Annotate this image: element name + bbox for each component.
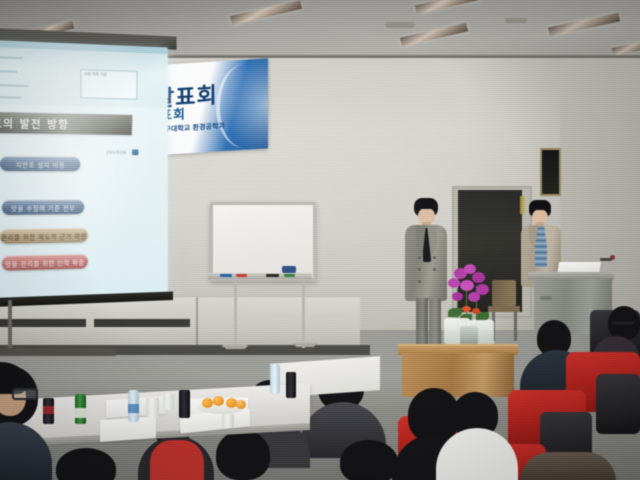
fruit-tangerine: [213, 396, 224, 406]
coat-button: [433, 268, 436, 271]
coat-button: [418, 280, 421, 283]
leg-left: [416, 298, 428, 350]
ceiling-light-fixture: [548, 13, 620, 37]
auditorium-photo: 발표회 표회 대구대학교 환경공학과 사용 목록 기준 으로의 발전 방향 EN…: [0, 0, 640, 480]
coat-button: [418, 256, 421, 259]
whiteboard-marker-tray: [208, 273, 312, 279]
wall-speaker-icon: [540, 148, 561, 196]
eyeglasses-icon: [612, 322, 634, 327]
orchid-accent: [462, 306, 471, 312]
flower-table-body: [402, 353, 514, 397]
audience-fur-collar: [520, 452, 616, 480]
paper-cup: [146, 398, 159, 418]
paper-cup: [222, 414, 234, 428]
projection-screen-assembly: 사용 목록 기준 으로의 발전 방향 ENVIRON 지반조 설치 비용: [0, 40, 175, 320]
orchid-arrangement: [442, 262, 506, 350]
hair-fringe: [414, 198, 438, 209]
coffee-can: [179, 390, 190, 418]
flower-vase: [460, 326, 478, 346]
caster-wheel-icon: [291, 345, 296, 350]
coffee-can: [286, 372, 296, 398]
audience-red-garment: [150, 440, 204, 480]
whiteboard-stand-post: [302, 276, 305, 348]
caster-wheel-icon: [221, 347, 226, 352]
marker-icon: [220, 274, 232, 277]
audience-head: [340, 440, 398, 480]
water-bottle: [270, 364, 280, 394]
podium-panel: [540, 296, 552, 300]
cabinet-handle: [0, 319, 86, 327]
orchid-bloom: [472, 272, 485, 283]
orchid-bloom: [452, 292, 463, 301]
microphone-indicator-icon: [610, 255, 615, 260]
whiteboard-stand-post: [234, 276, 237, 348]
coat-button: [418, 268, 421, 271]
marker-icon: [236, 274, 247, 277]
whiteboard: [210, 202, 316, 281]
eyeglasses-icon: [12, 388, 38, 400]
fruit-tangerine: [236, 400, 246, 409]
coat-button: [433, 256, 436, 259]
screen-stand-post: [8, 300, 12, 352]
ceiling-light-fixture: [612, 40, 640, 56]
marker-icon: [266, 274, 279, 277]
orchid-bloom: [448, 278, 460, 288]
orchid-bloom: [468, 292, 480, 302]
screen-stand-base: [0, 348, 116, 356]
ceiling-light-fixture: [230, 0, 302, 25]
ceiling-smudge: [385, 22, 415, 28]
cabinet-handle: [94, 319, 190, 327]
leg-right: [429, 298, 441, 350]
projection-screen: 사용 목록 기준 으로의 발전 방향 ENVIRON 지반조 설치 비용: [0, 40, 168, 302]
ceiling-smudge: [505, 18, 527, 23]
orchid-bloom: [460, 280, 474, 291]
whiteboard-eraser-icon: [282, 266, 296, 273]
bottle-label: [128, 404, 139, 413]
hair-fringe: [529, 200, 551, 210]
paper-cup: [163, 394, 174, 410]
seat-backrest: [596, 374, 640, 434]
marker-icon: [284, 274, 295, 277]
screen-glare: [0, 40, 168, 302]
audience-head: [216, 430, 270, 480]
chair-leg: [514, 311, 517, 341]
can-label: [43, 406, 54, 414]
caster-wheel-icon: [245, 347, 250, 352]
ceiling-light-fixture: [415, 0, 481, 14]
caster-wheel-icon: [314, 345, 319, 350]
bottle-label: [75, 408, 86, 418]
fruit-tangerine: [202, 398, 213, 408]
